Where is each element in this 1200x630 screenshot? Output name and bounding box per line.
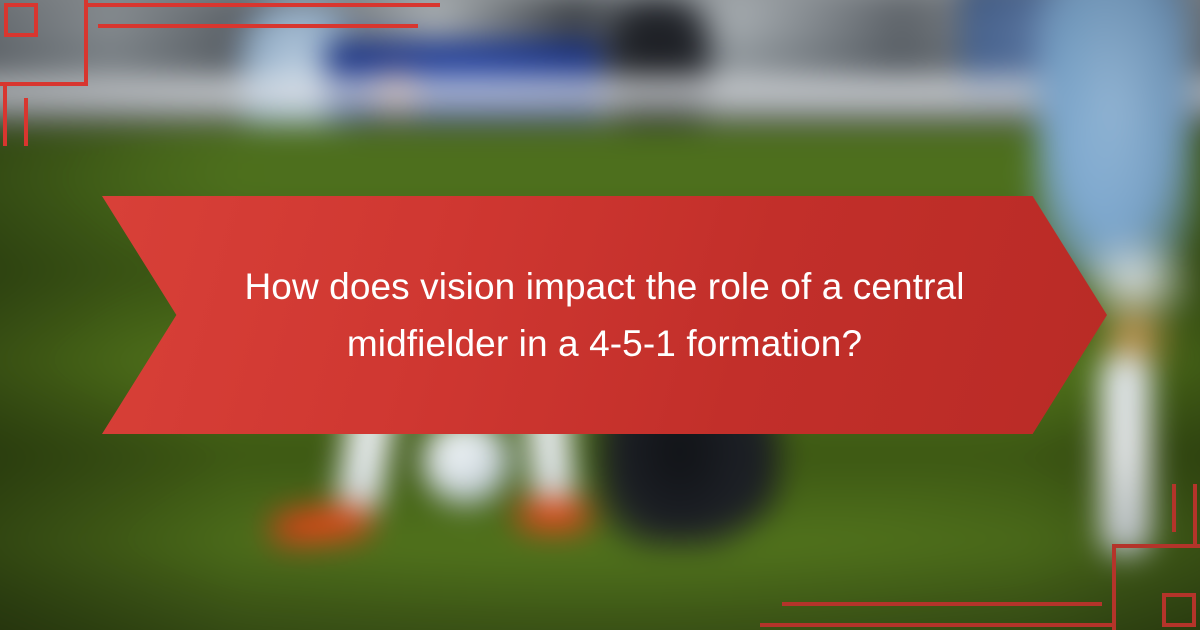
quote-card: How does vision impact the role of a cen… [0, 0, 1200, 630]
corner-line-horizontal-2 [98, 24, 418, 28]
corner-line-horizontal-2 [782, 602, 1102, 606]
corner-line-vertical-2 [24, 98, 28, 146]
corner-elbow-icon [0, 0, 88, 86]
corner-line-horizontal-1 [760, 623, 1116, 627]
corner-line-horizontal-1 [84, 3, 440, 7]
corner-decoration-bottom-right [740, 460, 1200, 630]
corner-line-vertical-2 [1172, 484, 1176, 532]
headline-text: How does vision impact the role of a cen… [225, 258, 985, 373]
corner-line-vertical-1 [3, 84, 7, 146]
headline-banner: How does vision impact the role of a cen… [102, 196, 1107, 434]
corner-decoration-top-left [0, 0, 460, 170]
corner-line-vertical-1 [1193, 484, 1197, 546]
corner-elbow-icon [1112, 544, 1200, 630]
